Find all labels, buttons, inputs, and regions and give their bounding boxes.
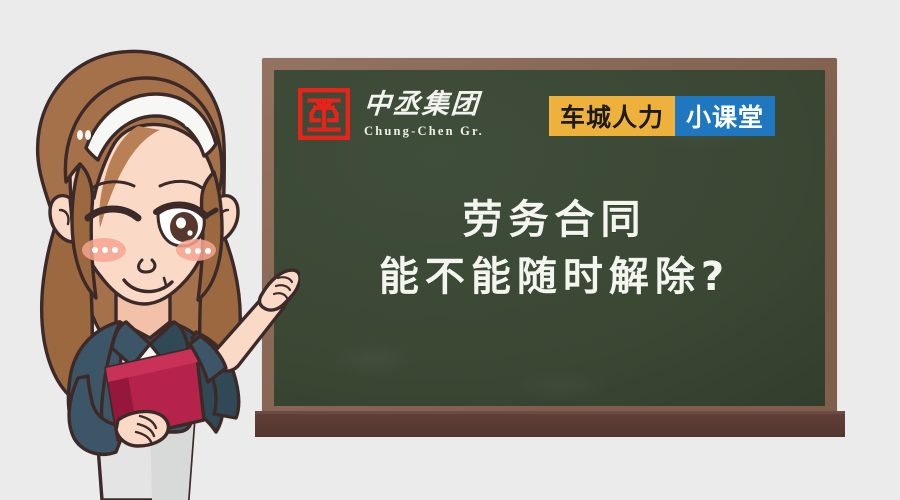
teacher-illustration [0, 22, 300, 500]
blackboard-surface: 中丞集团 Chung-Chen Gr. 车城人力 小课堂 劳务合同 能不能随时解… [274, 70, 825, 406]
board-title: 劳务合同 能不能随时解除? [274, 192, 825, 306]
badge-chechengrenli: 车城人力 [549, 96, 675, 136]
company-logo: 中丞集团 Chung-Chen Gr. [298, 88, 484, 140]
badge-xiaoketang: 小课堂 [675, 96, 775, 136]
board-title-line-1: 劳务合同 [284, 192, 825, 249]
company-name-cn: 中丞集团 [363, 91, 485, 118]
company-logo-text: 中丞集团 Chung-Chen Gr. [364, 91, 484, 138]
blackboard-frame: 中丞集团 Chung-Chen Gr. 车城人力 小课堂 劳务合同 能不能随时解… [262, 58, 837, 418]
screenshot-canvas: 中丞集团 Chung-Chen Gr. 车城人力 小课堂 劳务合同 能不能随时解… [0, 0, 900, 500]
chung-chen-seal-icon [298, 88, 350, 140]
badge-row: 车城人力 小课堂 [549, 96, 775, 136]
company-name-en: Chung-Chen Gr. [364, 125, 484, 138]
board-title-line-2: 能不能随时解除? [284, 249, 825, 306]
chalk-tray [255, 411, 845, 437]
